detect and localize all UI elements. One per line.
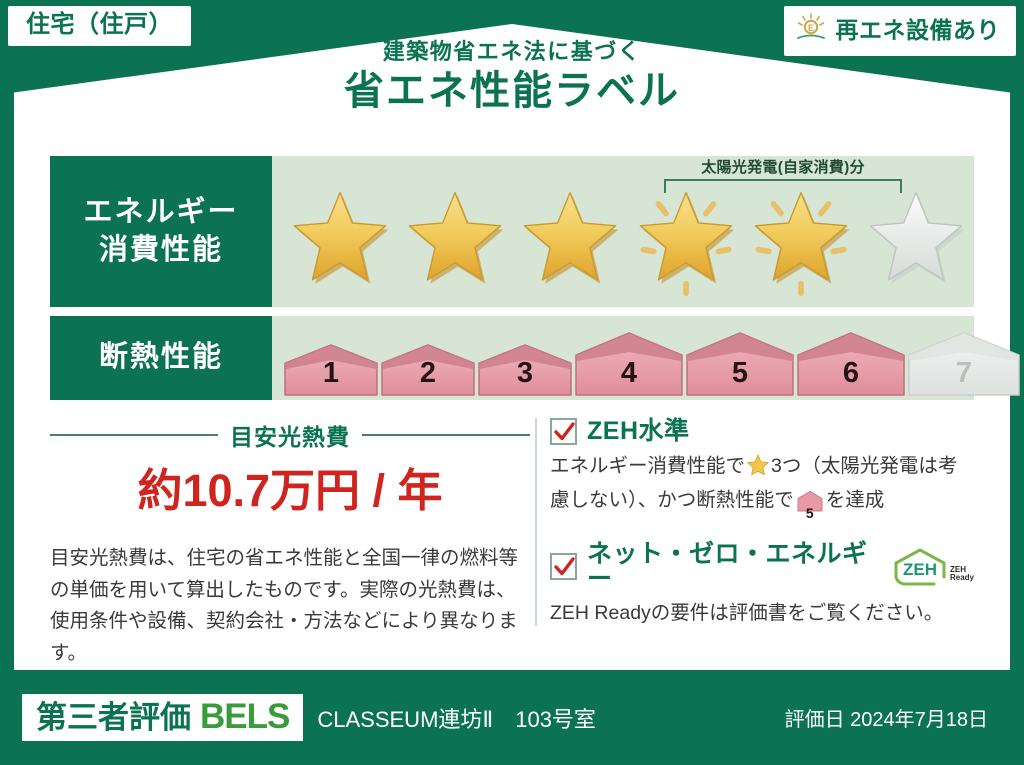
property-name: CLASSEUM連坊Ⅱ 103号室 xyxy=(317,702,596,734)
star-icon-1 xyxy=(288,185,392,297)
page-title: 省エネ性能ラベル xyxy=(0,68,1024,114)
star-icon-4 xyxy=(634,185,738,297)
inline-house-badge: 5 xyxy=(797,490,823,522)
house-level-number-6: 6 xyxy=(797,359,905,388)
energy-rating-value: 太陽光発電(自家消費)分 xyxy=(272,156,974,307)
net-zero-description: ZEH Readyの要件は評価書をご覧ください。 xyxy=(550,598,974,629)
energy-label-line1: エネルギー xyxy=(83,194,238,231)
house-level-number-5: 5 xyxy=(686,359,794,388)
zeh-ready-caption: ZEH Ready xyxy=(950,566,974,587)
insulation-performance-row: 断熱性能 1 xyxy=(50,316,974,400)
utility-cost-amount: 約10.7万円 / 年 xyxy=(50,468,530,513)
star-5 xyxy=(743,189,858,301)
insulation-performance-label: 断熱性能 xyxy=(50,316,272,400)
building-type-label: 住宅（住戸） xyxy=(26,13,173,37)
utility-cost-note: 目安光熱費は、住宅の省エネ性能と全国一律の燃料等の単価を用いて算出したものです。… xyxy=(50,543,530,669)
zeh-standard-description: エネルギー消費性能で3つ（太陽光発電は考慮しない）、かつ断熱性能で5を達成 xyxy=(550,451,974,522)
star-3 xyxy=(513,189,628,301)
solar-bracket xyxy=(664,179,902,193)
energy-label-line2: 消費性能 xyxy=(99,232,223,269)
check-icon xyxy=(554,421,575,443)
title-block: 建築物省エネ法に基づく 省エネ性能ラベル xyxy=(0,40,1024,114)
star-6 xyxy=(859,189,974,301)
house-level-number-4: 4 xyxy=(575,359,683,388)
zeh-desc-part3: を達成 xyxy=(826,489,885,511)
zeh-standard-checkbox[interactable] xyxy=(550,418,577,445)
star-icon-2 xyxy=(403,185,507,297)
bels-jp-label: 第三者評価 xyxy=(36,702,191,733)
energy-performance-row: エネルギー 消費性能 太陽光発電(自家消費)分 xyxy=(50,156,974,307)
zeh-house-icon: ZEH xyxy=(892,547,948,587)
evaluation-date: 評価日 2024年7月18日 xyxy=(785,703,988,732)
svg-text:E: E xyxy=(807,23,813,33)
svg-text:ZEH: ZEH xyxy=(903,560,937,579)
bels-en-label: BELS xyxy=(200,699,289,734)
title-subtitle: 建築物省エネ法に基づく xyxy=(0,40,1024,64)
insulation-level-7: 7 xyxy=(908,332,1020,396)
house-rating: 1 2 xyxy=(272,332,974,396)
utility-cost-heading-text: 目安光熱費 xyxy=(230,418,350,452)
utility-cost-heading: 目安光熱費 xyxy=(50,418,530,452)
performance-area: エネルギー 消費性能 太陽光発電(自家消費)分 xyxy=(50,156,974,409)
lower-content: 目安光熱費 約10.7万円 / 年 目安光熱費は、住宅の省エネ性能と全国一律の燃… xyxy=(50,418,974,669)
zeh-standard-title: ZEH水準 xyxy=(587,419,690,444)
zeh-ready-line2: Ready xyxy=(950,574,974,582)
utility-cost-column: 目安光熱費 約10.7万円 / 年 目安光熱費は、住宅の省エネ性能と全国一律の燃… xyxy=(50,418,530,669)
bels-energy-label: 住宅（住戸） E 再エネ設備あり 建築物省エネ法に基づく 省エネ性能ラベル xyxy=(0,0,1024,765)
star-2 xyxy=(397,189,512,301)
zeh-ready-logo: ZEH ZEH Ready xyxy=(892,547,974,587)
insulation-level-1: 1 xyxy=(284,344,378,396)
solar-annotation: 太陽光発電(自家消費)分 xyxy=(664,160,902,193)
house-level-number-2: 2 xyxy=(381,359,475,388)
check-icon xyxy=(554,556,575,578)
star-icon-6 xyxy=(864,185,968,297)
insulation-level-5: 5 xyxy=(686,332,794,396)
inline-star-icon xyxy=(747,458,769,480)
insulation-level-3: 3 xyxy=(478,344,572,396)
solar-annotation-text: 太陽光発電(自家消費)分 xyxy=(664,160,902,175)
house-level-number-3: 3 xyxy=(478,359,572,388)
star-1 xyxy=(282,189,397,301)
net-zero-checkbox[interactable] xyxy=(550,553,577,580)
inline-house-value: 5 xyxy=(797,506,823,520)
heading-rule-left xyxy=(50,434,218,436)
heading-rule-right xyxy=(362,434,530,436)
insulation-level-6: 6 xyxy=(797,332,905,396)
insulation-level-2: 2 xyxy=(381,344,475,396)
star-icon-5 xyxy=(749,185,853,297)
divider-spacer xyxy=(530,418,550,669)
zeh-standard-row: ZEH水準 xyxy=(550,418,974,445)
insulation-level-4: 4 xyxy=(575,332,683,396)
zeh-desc-part1: エネルギー消費性能で xyxy=(550,455,745,477)
renewable-label: 再エネ設備あり xyxy=(836,19,1001,42)
insulation-label-text: 断熱性能 xyxy=(99,339,223,376)
certification-column: ZEH水準 エネルギー消費性能で3つ（太陽光発電は考慮しない）、かつ断熱性能で5… xyxy=(550,418,974,669)
net-zero-row: ネット・ゼロ・エネルギー ZEH ZEH Ready xyxy=(550,542,974,592)
energy-performance-label: エネルギー 消費性能 xyxy=(50,156,272,307)
net-zero-title: ネット・ゼロ・エネルギー xyxy=(587,542,874,592)
bels-badge: 第三者評価 BELS xyxy=(22,694,303,741)
star-icon-3 xyxy=(518,185,622,297)
star-4 xyxy=(628,189,743,301)
house-level-number-1: 1 xyxy=(284,359,378,388)
star-rating xyxy=(272,189,974,301)
footer-bar: 第三者評価 BELS CLASSEUM連坊Ⅱ 103号室 評価日 2024年7月… xyxy=(0,670,1024,765)
house-level-number-7: 7 xyxy=(908,359,1020,388)
insulation-rating-value: 1 2 xyxy=(272,316,974,400)
